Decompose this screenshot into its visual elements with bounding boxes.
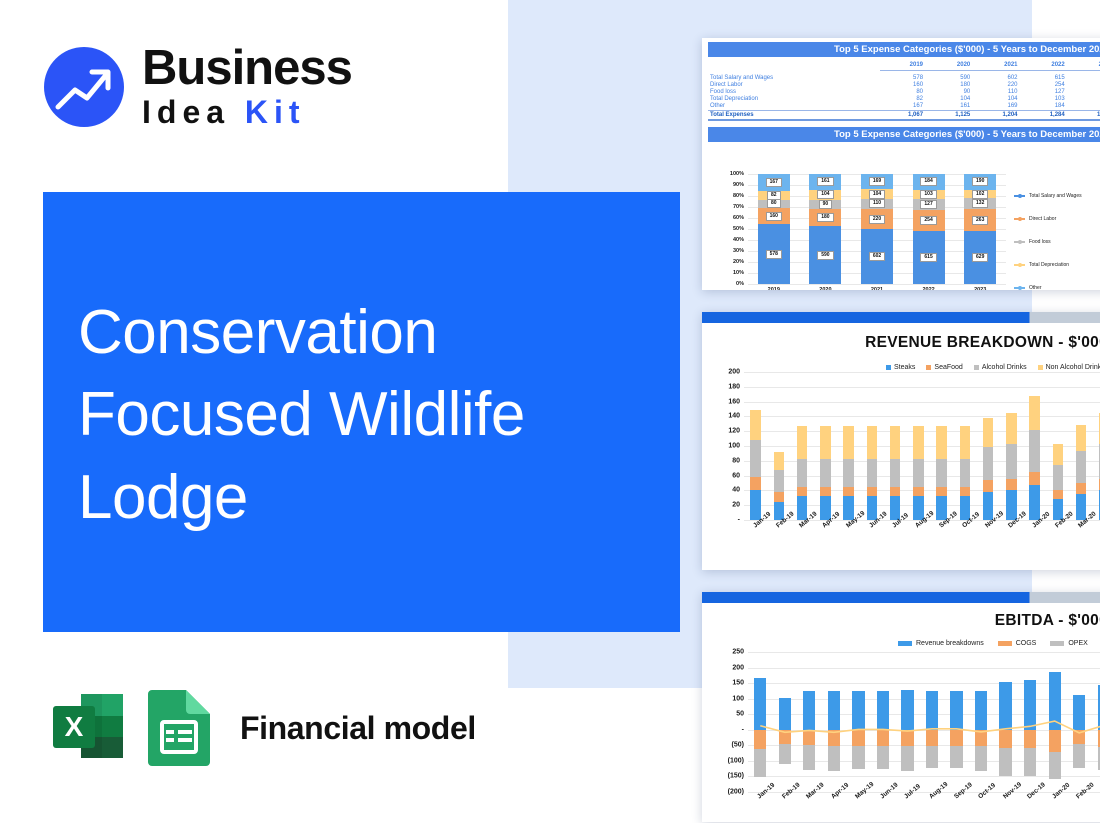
legend-swatch: [1014, 218, 1025, 220]
data-label: 629: [972, 253, 988, 262]
y-axis-tick: 70%: [733, 204, 744, 210]
data-label: 104: [869, 190, 885, 199]
bar-segment: [983, 447, 994, 480]
bar: [820, 372, 831, 520]
brand-idea-word: Idea: [142, 94, 230, 130]
y-axis-tick: 10%: [733, 270, 744, 276]
legend-swatch: [1014, 195, 1025, 197]
bar-segment: [750, 410, 761, 440]
legend-label: Total Depreciation: [1029, 262, 1069, 268]
data-label: 103: [920, 190, 936, 199]
data-label: 167: [766, 178, 782, 187]
bar: [913, 372, 924, 520]
expense-stacked-chart-plot: 0%10%20%30%40%50%60%70%80%90%100%5781608…: [748, 174, 1006, 284]
brand-logo: Business Idea Kit: [44, 44, 352, 131]
legend-label: Revenue breakdowns: [916, 640, 984, 647]
card-top-strip: [702, 592, 1100, 603]
bar-segment: [1076, 483, 1087, 494]
table-row: Direct Labor160180220254263: [708, 82, 1100, 89]
bar-segment: 161: [809, 174, 841, 190]
legend-item: COGS: [998, 640, 1037, 647]
bar: 59018090104161: [809, 174, 841, 284]
bar-segment: 132: [964, 198, 996, 209]
bar-segment: 190: [964, 174, 996, 190]
table-row: Food loss8090110127132: [708, 89, 1100, 96]
bar-segment: [960, 426, 971, 459]
bar-segment: 110: [861, 199, 893, 209]
bar-segment: [983, 418, 994, 447]
bar: 629263132102190: [964, 174, 996, 284]
y-axis-tick: 80: [732, 457, 740, 464]
bar-segment: [890, 459, 901, 487]
brand-kit-word: Kit: [245, 94, 306, 130]
data-label: 602: [869, 252, 885, 261]
y-axis-tick: 100: [732, 695, 744, 702]
x-axis-tick: 2021: [871, 287, 883, 290]
bar: [983, 372, 994, 520]
legend-item: Revenue breakdowns: [898, 640, 984, 647]
revenue-chart-plot: -20406080100120140160180200Jan-19Feb-19M…: [744, 372, 1100, 520]
y-axis-tick: 160: [728, 398, 740, 405]
y-axis-tick: -: [738, 517, 740, 524]
legend-label: COGS: [1016, 640, 1037, 647]
bar-segment: [1006, 479, 1017, 491]
expense-chart-title: Top 5 Expense Categories ($'000) - 5 Yea…: [708, 127, 1100, 142]
bar-segment: 180: [809, 209, 841, 227]
bar-segment: [750, 477, 761, 490]
x-axis-tick: 2023: [974, 287, 986, 290]
bar-segment: [797, 459, 808, 488]
legend-swatch: [1014, 264, 1025, 266]
y-axis-tick: (200): [728, 789, 744, 796]
expense-chart-legend: Total Salary and WagesDirect LaborFood l…: [1014, 184, 1100, 290]
expense-table-title: Top 5 Expense Categories ($'000) - 5 Yea…: [708, 42, 1100, 57]
x-axis-tick: 2022: [922, 287, 934, 290]
bar-segment: 80: [758, 200, 790, 208]
table-header: 2022: [1022, 62, 1069, 71]
y-axis-tick: (50): [732, 742, 744, 749]
y-axis-tick: 200: [732, 664, 744, 671]
data-label: 590: [817, 251, 833, 260]
legend-item: Other: [1014, 276, 1100, 290]
y-axis-tick: 0%: [736, 281, 744, 287]
bar-segment: [890, 487, 901, 497]
data-label: 110: [869, 199, 885, 208]
bar-segment: [797, 487, 808, 496]
table-header: 2020: [927, 62, 974, 71]
table-total-row: Total Expenses1,0671,1251,2041,2841,316: [708, 111, 1100, 120]
bar-segment: [1053, 490, 1064, 498]
bar-segment: [867, 459, 878, 488]
bar-segment: [843, 487, 854, 496]
expense-table: 20192020202120222023Total Salary and Wag…: [708, 62, 1100, 121]
card-top-strip: [702, 312, 1100, 323]
bar: [797, 372, 808, 520]
legend-swatch: [886, 365, 891, 370]
bar: [843, 372, 854, 520]
bar-segment: [750, 490, 761, 520]
data-label: 263: [972, 216, 988, 225]
bar-segment: [936, 459, 947, 487]
legend-swatch: [998, 641, 1012, 646]
bar-segment: [913, 426, 924, 459]
legend-swatch: [1050, 641, 1064, 646]
bar-segment: [1053, 465, 1064, 491]
bar-segment: [1053, 444, 1064, 465]
data-label: 104: [817, 190, 833, 199]
legend-swatch: [1038, 365, 1043, 370]
bar-segment: [843, 459, 854, 488]
legend-label: Steaks: [894, 364, 915, 371]
bar-segment: [820, 426, 831, 459]
bar-segment: [820, 459, 831, 488]
bar: 602220110104169: [861, 174, 893, 284]
y-axis-tick: 120: [728, 428, 740, 435]
bar: [1029, 372, 1040, 520]
bar-segment: 590: [809, 226, 841, 284]
table-row: Total Salary and Wages578590602615629: [708, 75, 1100, 82]
bar-segment: [867, 426, 878, 459]
legend-item: Food loss: [1014, 230, 1100, 253]
bar-segment: 82: [758, 191, 790, 199]
svg-text:X: X: [65, 711, 84, 742]
data-label: 184: [920, 177, 936, 186]
legend-label: Direct Labor: [1029, 216, 1056, 222]
bar-segment: [867, 487, 878, 496]
legend-label: Total Salary and Wages: [1029, 193, 1082, 199]
bar-segment: [1029, 485, 1040, 520]
data-label: 82: [767, 191, 781, 200]
data-label: 254: [920, 216, 936, 225]
bar-segment: 160: [758, 208, 790, 224]
footer-label: Financial model: [240, 710, 476, 747]
y-axis-tick: 100: [728, 443, 740, 450]
ebitda-chart-plot: 25020015010050-(50)(100)(150)(200)Jan-19…: [748, 652, 1100, 792]
excel-icon: X: [46, 684, 130, 773]
data-label: 102: [972, 190, 988, 199]
y-axis-tick: 40%: [733, 237, 744, 243]
bar-segment: [1076, 425, 1087, 452]
data-label: 615: [920, 253, 936, 262]
bar-segment: [1006, 413, 1017, 443]
bar: [960, 372, 971, 520]
y-axis-tick: 80%: [733, 193, 744, 199]
y-axis-tick: -: [742, 726, 744, 733]
bar: [936, 372, 947, 520]
x-axis-tick: 2019: [768, 287, 780, 290]
data-label: 80: [767, 199, 781, 208]
bar-segment: 127: [913, 199, 945, 210]
y-axis-tick: 100%: [730, 171, 744, 177]
bar-segment: 184: [913, 174, 945, 190]
data-label: 161: [817, 177, 833, 186]
y-axis-tick: 150: [732, 680, 744, 687]
y-axis-tick: 200: [728, 369, 740, 376]
legend-swatch: [974, 365, 979, 370]
bar-segment: 104: [861, 189, 893, 198]
expense-categories-card: Top 5 Expense Categories ($'000) - 5 Yea…: [702, 38, 1100, 290]
bar-segment: [1029, 396, 1040, 431]
legend-item: Steaks: [886, 364, 915, 371]
y-axis-tick: 60: [732, 472, 740, 479]
bar-segment: [750, 440, 761, 477]
brand-name-primary: Business: [142, 44, 352, 92]
bar: [1006, 372, 1017, 520]
brand-name-secondary: Idea Kit: [142, 94, 352, 131]
bar-segment: [960, 487, 971, 497]
y-axis-tick: 50%: [733, 226, 744, 232]
bar-segment: [1029, 430, 1040, 471]
bar-segment: [936, 426, 947, 459]
bar-segment: [820, 487, 831, 496]
legend-label: Food loss: [1029, 239, 1051, 245]
data-label: 190: [972, 177, 988, 186]
data-label: 160: [766, 212, 782, 221]
legend-swatch: [898, 641, 912, 646]
y-axis-tick: 60%: [733, 215, 744, 221]
table-header: [708, 62, 880, 71]
page-title: Conservation Focused Wildlife Lodge: [78, 292, 658, 539]
data-label: 90: [819, 200, 833, 209]
bar: [1053, 372, 1064, 520]
y-axis-tick: 140: [728, 413, 740, 420]
revenue-chart-legend: SteaksSeaFoodAlcohol DrinksNon Alcohol D…: [886, 364, 1100, 371]
legend-item: Alcohol Drinks: [974, 364, 1027, 371]
bar-segment: 578: [758, 224, 790, 284]
legend-swatch: [926, 365, 931, 370]
y-axis-tick: 180: [728, 383, 740, 390]
x-axis-tick: 2020: [819, 287, 831, 290]
y-axis-tick: 40: [732, 487, 740, 494]
y-axis-tick: 20: [732, 502, 740, 509]
bar: 615254127103184: [913, 174, 945, 284]
bar-segment: 263: [964, 209, 996, 231]
legend-label: Non Alcohol Drinks: [1046, 364, 1100, 371]
bar-segment: [774, 470, 785, 491]
bar-segment: [913, 487, 924, 497]
bar-segment: 220: [861, 209, 893, 229]
table-header: 2023: [1069, 62, 1100, 71]
legend-label: OPEX: [1068, 640, 1087, 647]
data-label: 127: [920, 200, 936, 209]
bar-segment: [1006, 444, 1017, 479]
y-axis-tick: (150): [728, 773, 744, 780]
ebitda-card: EBITDA - $'000 Revenue breakdownsCOGSOPE…: [702, 592, 1100, 822]
bar-segment: [913, 459, 924, 487]
ebitda-chart-title: EBITDA - $'000: [702, 612, 1100, 630]
y-axis-tick: (100): [728, 757, 744, 764]
data-label: 578: [766, 250, 782, 259]
table-header: 2019: [880, 62, 927, 71]
table-row: Total Depreciation82104104103102: [708, 96, 1100, 103]
legend-item: Direct Labor: [1014, 207, 1100, 230]
bar-segment: 615: [913, 231, 945, 284]
y-axis-tick: 90%: [733, 182, 744, 188]
legend-label: Alcohol Drinks: [982, 364, 1027, 371]
bar: [867, 372, 878, 520]
legend-label: SeaFood: [934, 364, 962, 371]
data-label: 169: [869, 177, 885, 186]
bar-segment: [774, 492, 785, 502]
legend-label: Other: [1029, 285, 1042, 291]
legend-item: Total Depreciation: [1014, 253, 1100, 276]
bar: [750, 372, 761, 520]
data-label: 132: [972, 199, 988, 208]
revenue-breakdown-card: REVENUE BREAKDOWN - $'000 SteaksSeaFoodA…: [702, 312, 1100, 570]
table-row: Other167161169184190: [708, 103, 1100, 111]
bar-segment: 167: [758, 174, 790, 191]
legend-swatch: [1014, 241, 1025, 243]
bar-segment: [1029, 472, 1040, 485]
google-sheets-icon: [140, 684, 218, 773]
bar-segment: 629: [964, 231, 996, 284]
bar-segment: 103: [913, 190, 945, 199]
y-axis-tick: 20%: [733, 259, 744, 265]
footer-format-row: X Financial model: [46, 684, 476, 773]
bar-segment: [960, 459, 971, 487]
y-axis-tick: 250: [732, 649, 744, 656]
bar-segment: 90: [809, 200, 841, 209]
bar: [1076, 372, 1087, 520]
revenue-chart-title: REVENUE BREAKDOWN - $'000: [702, 334, 1100, 352]
legend-item: SeaFood: [926, 364, 962, 371]
y-axis-tick: 30%: [733, 248, 744, 254]
bar-segment: [983, 480, 994, 492]
legend-swatch: [1014, 287, 1025, 289]
legend-item: Non Alcohol Drinks: [1038, 364, 1100, 371]
bar-segment: 254: [913, 210, 945, 232]
bar-segment: 602: [861, 229, 893, 284]
data-label: 180: [817, 213, 833, 222]
bar-segment: 102: [964, 190, 996, 199]
ebitda-chart-legend: Revenue breakdownsCOGSOPEX: [898, 640, 1088, 647]
bar: [890, 372, 901, 520]
y-axis-tick: 50: [736, 711, 744, 718]
bar-segment: 104: [809, 190, 841, 200]
bar: 5781608082167: [758, 174, 790, 284]
ebitda-trend-line: [748, 652, 1100, 792]
growth-arrow-icon: [44, 47, 124, 127]
bar-segment: [843, 426, 854, 459]
bar-segment: [797, 426, 808, 459]
bar-segment: [774, 452, 785, 471]
data-label: 220: [869, 215, 885, 224]
bar-segment: [890, 426, 901, 459]
legend-item: Total Salary and Wages: [1014, 184, 1100, 207]
bar-segment: 169: [861, 174, 893, 189]
bar: [774, 372, 785, 520]
bar-segment: [936, 487, 947, 497]
table-header: 2021: [974, 62, 1021, 71]
bar-segment: [1076, 451, 1087, 483]
legend-item: OPEX: [1050, 640, 1087, 647]
